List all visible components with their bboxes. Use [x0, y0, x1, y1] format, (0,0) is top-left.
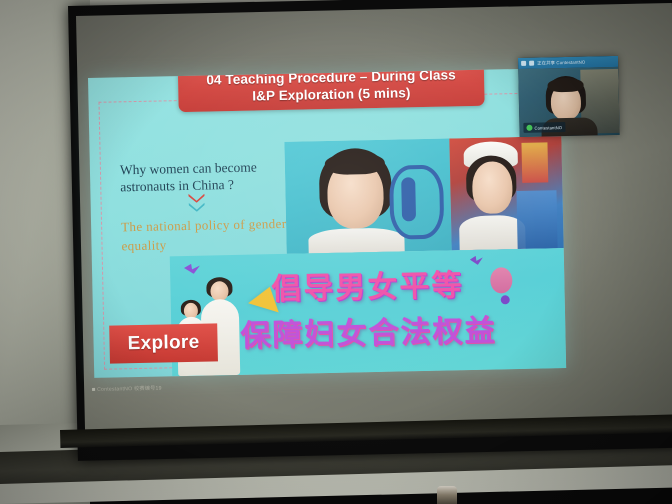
watermark-text: ContestantNO 校赛编号19: [97, 385, 162, 393]
slide-title-line-2: I&P Exploration (5 mins): [252, 84, 411, 104]
slide-title-banner: 04 Teaching Procedure – During Class I&P…: [178, 68, 485, 112]
watermark-dot-icon: [92, 388, 95, 391]
astronaut-photo-right: [449, 136, 566, 250]
video-conference-tile[interactable]: 正在共享 ContestantNO ContestantNO: [518, 56, 620, 137]
people-icon[interactable]: [529, 61, 534, 66]
video-tile-top-label: 正在共享 ContestantNO: [537, 59, 585, 66]
participant-name-badge: ContestantNO: [523, 122, 565, 133]
astronaut-photo-left: [284, 138, 451, 253]
chinese-slogan-banner: 倡导男女平等 保障妇女合法权益: [170, 248, 566, 376]
chevron-down-blue-icon: [189, 203, 205, 212]
presentation-slide: 04 Teaching Procedure – During Class I&P…: [88, 68, 566, 378]
counter-object: [437, 486, 457, 504]
explore-button[interactable]: Explore: [109, 323, 218, 363]
explore-button-label: Explore: [127, 332, 199, 355]
answer-text: The national policy of gender equality: [121, 213, 312, 255]
microphone-icon[interactable]: [526, 125, 532, 131]
grid-icon[interactable]: [521, 61, 526, 66]
participant-fringe: [547, 78, 583, 93]
question-text: Why women can become astronauts in China…: [120, 158, 301, 196]
slogan-line-2: 保障妇女合法权益: [171, 304, 566, 356]
room-photo-scene: 04 Teaching Procedure – During Class I&P…: [0, 0, 672, 504]
video-feed: ContestantNO: [518, 67, 619, 137]
contestant-watermark: ContestantNO 校赛编号19: [92, 385, 162, 393]
participant-name: ContestantNO: [534, 125, 562, 131]
slogan-line-1: 倡导男女平等: [170, 258, 565, 310]
chevron-down-red-icon: [188, 194, 204, 203]
astronaut-photo-row: [284, 136, 566, 254]
